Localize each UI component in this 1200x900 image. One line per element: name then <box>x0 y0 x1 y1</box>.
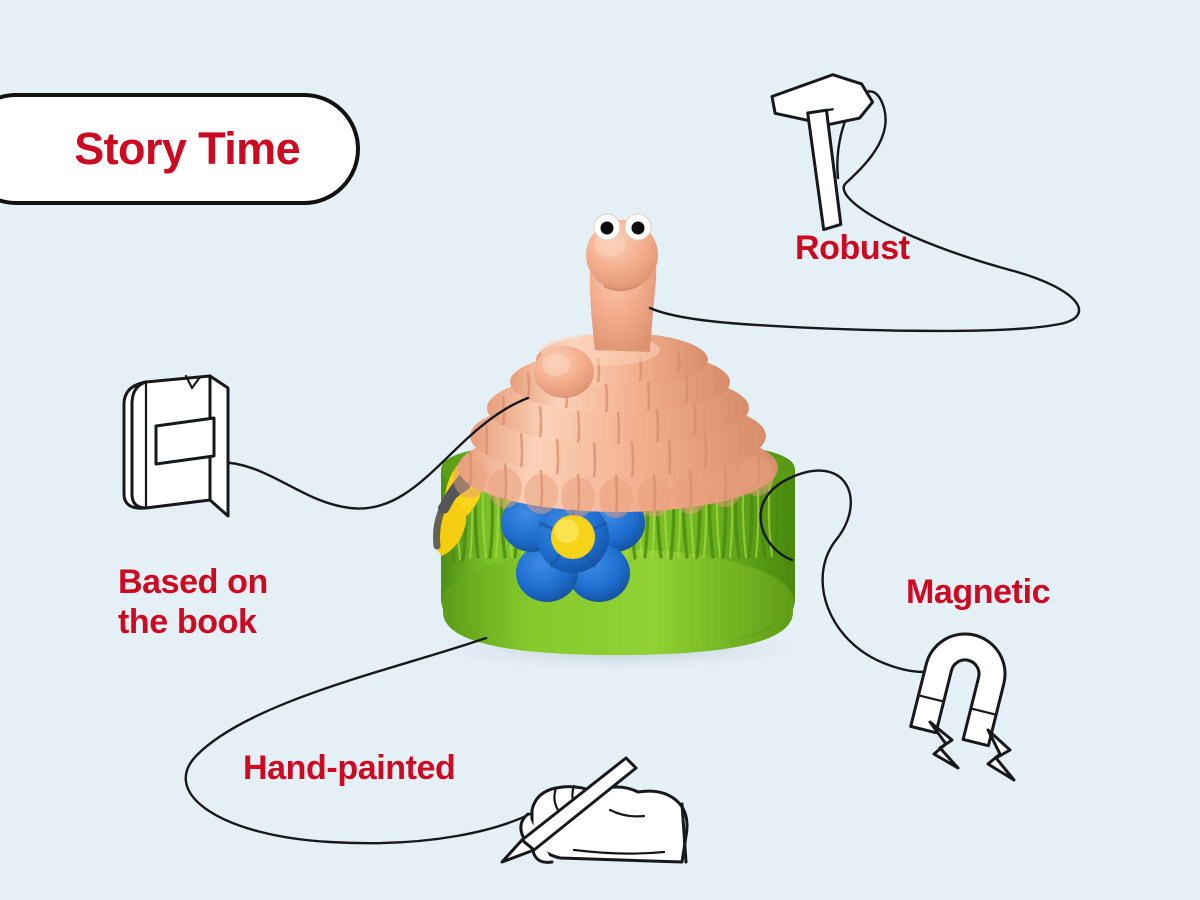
worm-tail-nub <box>534 346 594 398</box>
worm-eyes <box>594 214 651 240</box>
thread-based-on-the-book <box>218 398 528 509</box>
feature-label-magnetic: Magnetic <box>906 572 1050 612</box>
bee-decoration <box>434 450 492 556</box>
feature-label-robust: Robust <box>795 228 910 268</box>
thread-hand-painted <box>186 638 534 843</box>
thread-robust <box>650 91 1079 331</box>
book-icon <box>124 376 228 516</box>
story-time-badge: Story Time <box>0 93 360 205</box>
grass-base <box>441 436 795 655</box>
blue-flower-decoration <box>501 465 645 602</box>
magnet-sparks <box>930 722 1014 780</box>
worm-coil-body <box>453 333 778 518</box>
hand-with-brush-icon <box>502 758 687 862</box>
worm-head <box>586 214 658 352</box>
badge-label: Story Time <box>74 123 300 175</box>
product-shadow <box>436 626 800 670</box>
magnet-icon <box>911 625 1014 745</box>
feature-label-based-on-the-book: Based on the book <box>118 562 268 642</box>
feature-graphic-canvas: Story Time Robust Based on the book Magn… <box>0 0 1200 900</box>
feature-label-hand-painted: Hand-painted <box>243 748 455 788</box>
hammer-icon <box>751 65 876 234</box>
